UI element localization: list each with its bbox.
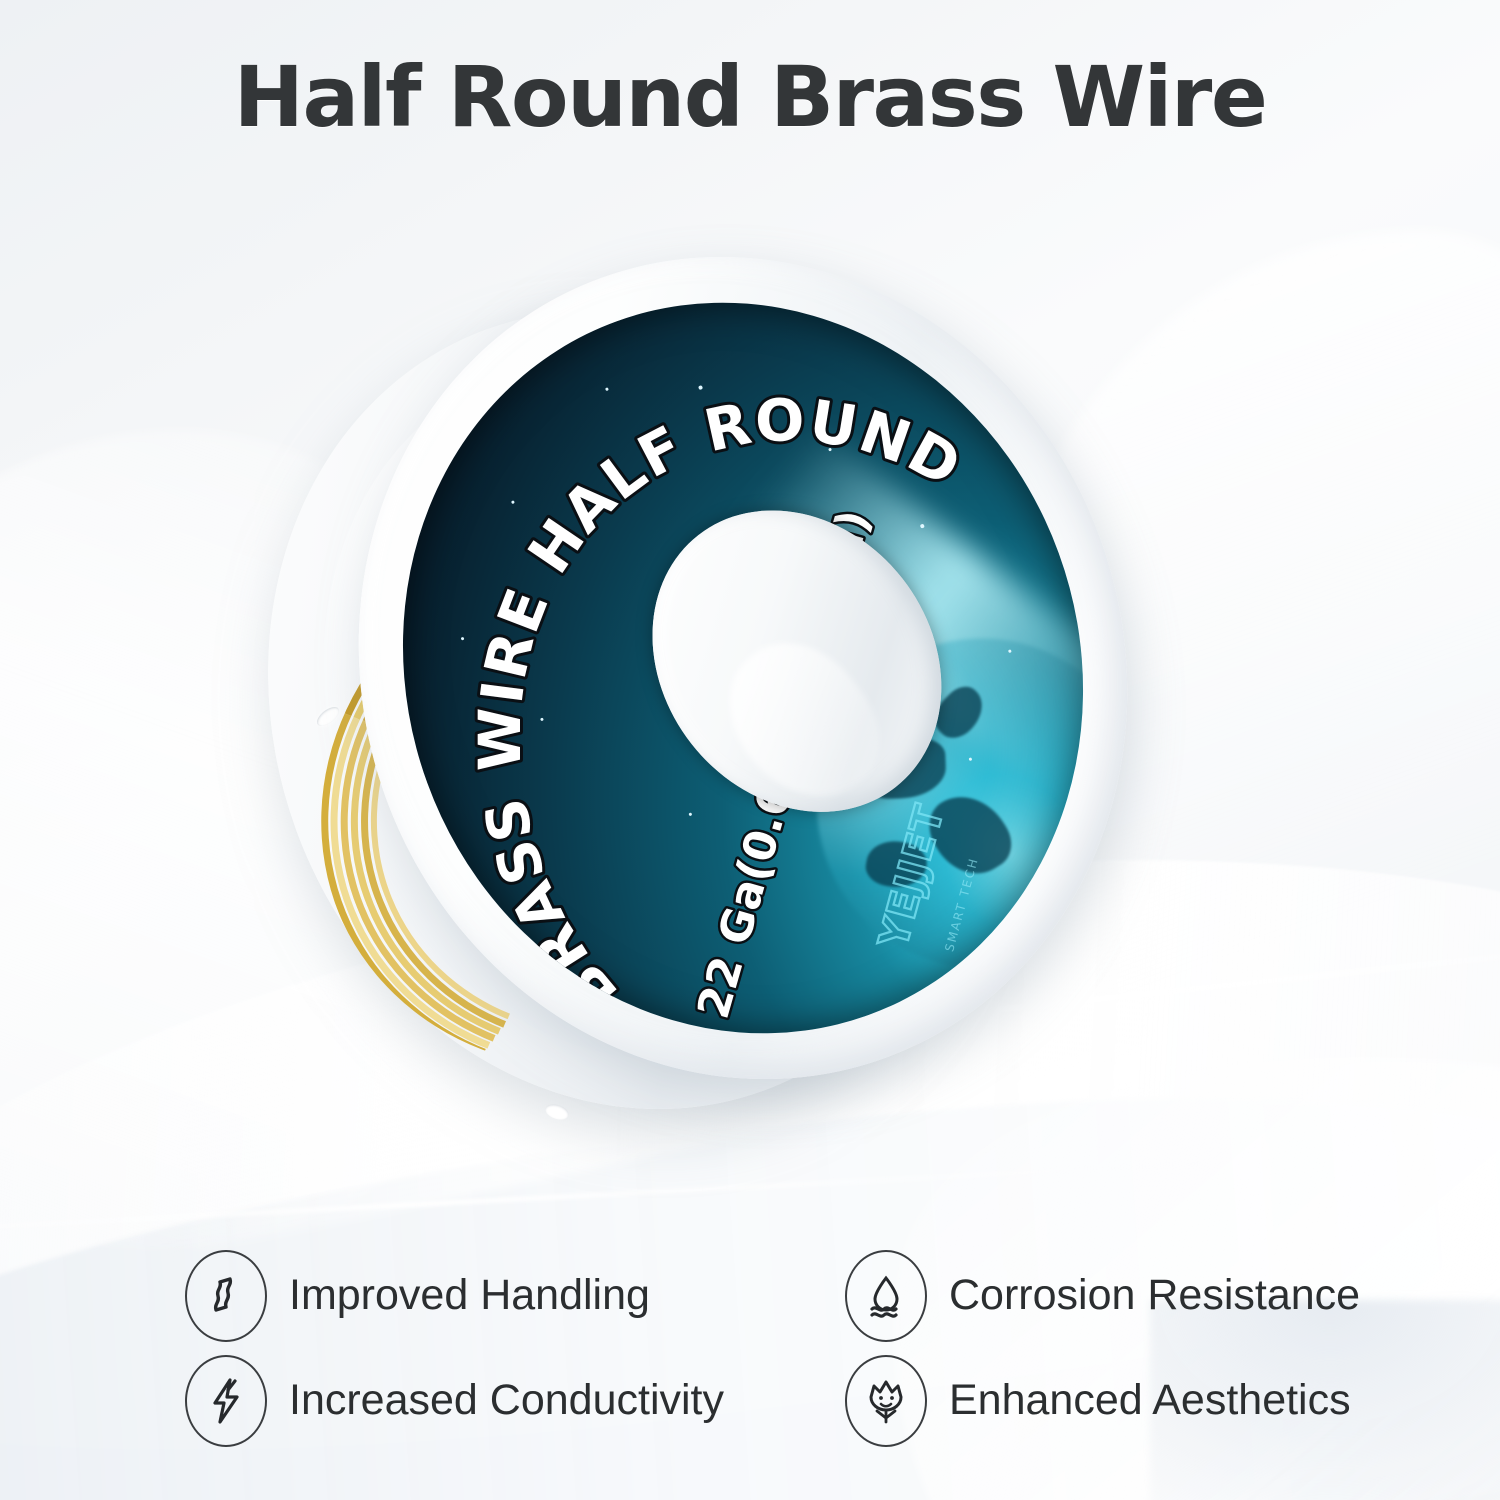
feature-list: Improved Handling Corrosion Resistance I… [185, 1243, 1365, 1453]
spool-front-flange: BRASS WIRE HALF ROUND 22 Ga(0.64X0.32mm)… [244, 148, 1242, 1188]
page-title: Half Round Brass Wire [0, 48, 1500, 146]
feature-label: Enhanced Aesthetics [949, 1376, 1351, 1425]
feature-item-improved-handling: Improved Handling [185, 1250, 845, 1342]
water-drop-icon [845, 1250, 927, 1342]
feature-label: Improved Handling [289, 1271, 650, 1320]
product-spool: BRASS WIRE HALF ROUND 22 Ga(0.64X0.32mm)… [245, 215, 1115, 1155]
product-image-canvas: Half Round Brass Wire [0, 0, 1500, 1500]
feature-label: Corrosion Resistance [949, 1271, 1360, 1320]
wavy-wire-icon [185, 1250, 267, 1342]
feature-label: Increased Conductivity [289, 1376, 724, 1425]
feature-item-increased-conductivity: Increased Conductivity [185, 1355, 845, 1447]
lightning-bolt-icon [185, 1355, 267, 1447]
feature-item-corrosion-resistance: Corrosion Resistance [845, 1250, 1365, 1342]
feature-item-enhanced-aesthetics: Enhanced Aesthetics [845, 1355, 1365, 1447]
background-highlight-line-2 [0, 1161, 1199, 1234]
flower-smile-icon [845, 1355, 927, 1447]
